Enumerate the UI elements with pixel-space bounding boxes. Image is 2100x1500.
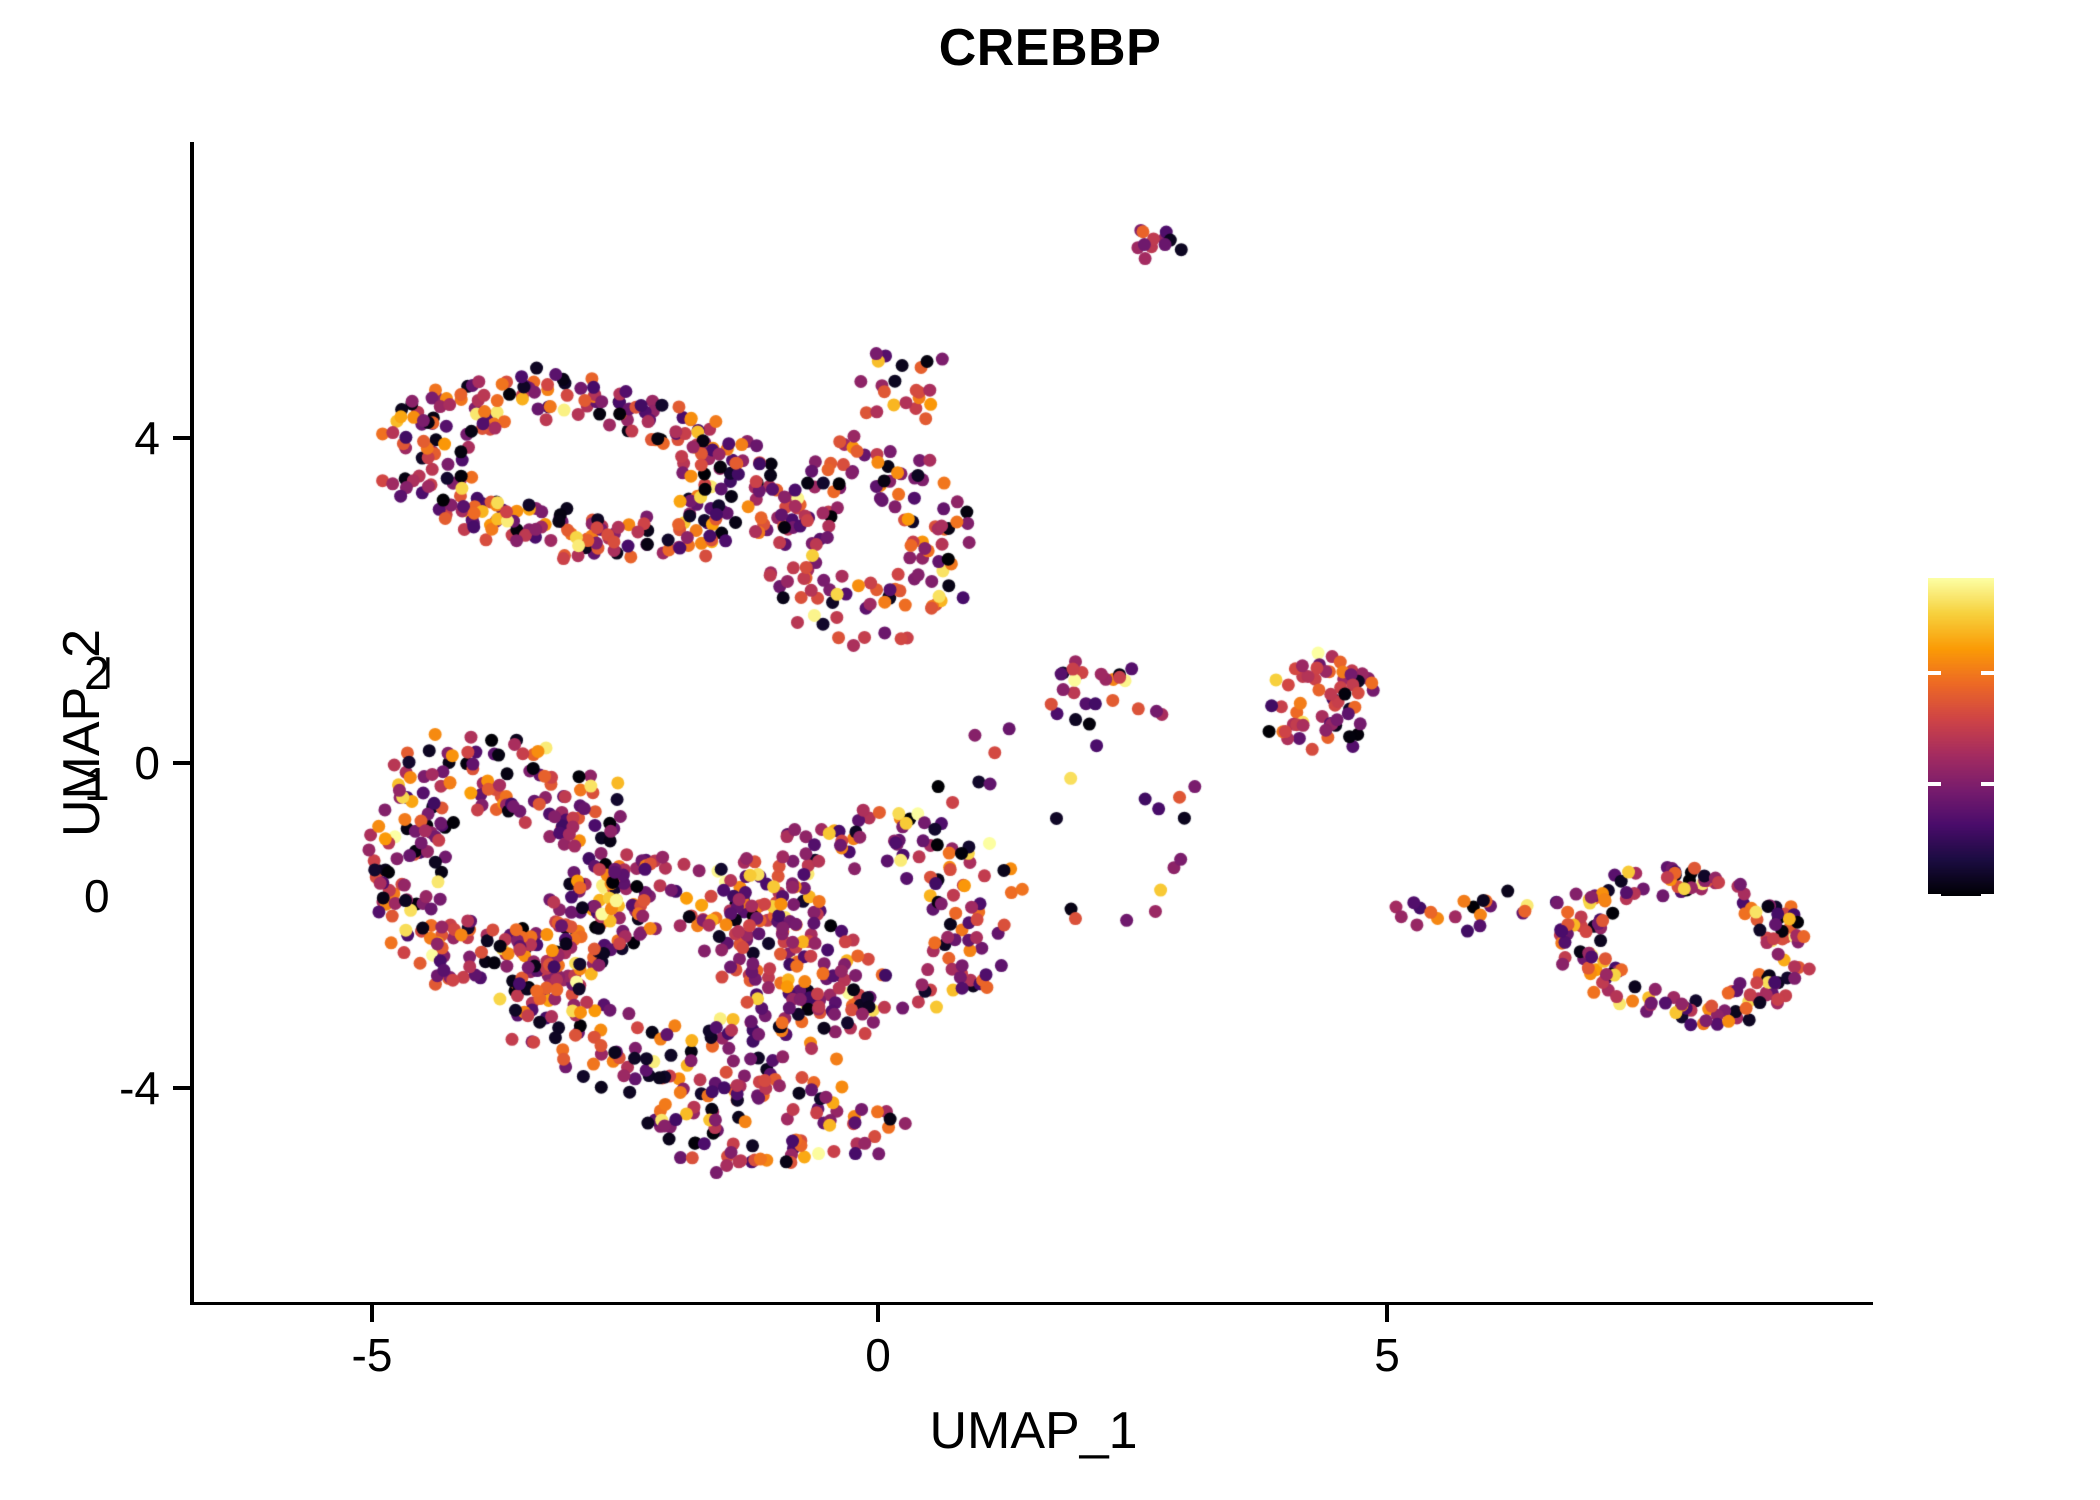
- x-tick-label-neg5: -5: [272, 1332, 472, 1378]
- y-tick-mark-4: [173, 436, 190, 440]
- colorbar-legend: [1928, 578, 1994, 896]
- colorbar-label-1: 1: [84, 761, 110, 807]
- colorbar-tick-2-left: [1928, 671, 1941, 675]
- page-title: CREBBP: [0, 22, 2100, 74]
- y-tick-mark-0: [173, 761, 190, 765]
- y-axis-title: UMAP_2: [56, 333, 108, 1133]
- colorbar-tick-1-left: [1928, 782, 1941, 786]
- colorbar-tick-0-right: [1981, 894, 1994, 898]
- colorbar-label-2: 2: [84, 650, 110, 696]
- colorbar-label-0: 0: [84, 873, 110, 919]
- x-tick-label-0: 0: [778, 1332, 978, 1378]
- x-tick-mark-0: [876, 1305, 880, 1322]
- x-tick-mark-neg5: [370, 1305, 374, 1322]
- x-tick-label-5: 5: [1287, 1332, 1487, 1378]
- x-axis-title: UMAP_1: [194, 1405, 1873, 1457]
- plot-panel: [194, 142, 1873, 1302]
- colorbar-tick-2-right: [1981, 671, 1994, 675]
- colorbar-gradient: [1928, 578, 1994, 896]
- y-tick-mark-neg4: [173, 1086, 190, 1090]
- colorbar-tick-0-left: [1928, 894, 1941, 898]
- figure-root: CREBBP 4 0 -4 -5 0 5 UMAP_1 UMAP_2 2 1 0: [0, 0, 2100, 1500]
- x-tick-mark-5: [1385, 1305, 1389, 1322]
- colorbar-tick-1-right: [1981, 782, 1994, 786]
- umap-scatter-plot: [194, 142, 1873, 1302]
